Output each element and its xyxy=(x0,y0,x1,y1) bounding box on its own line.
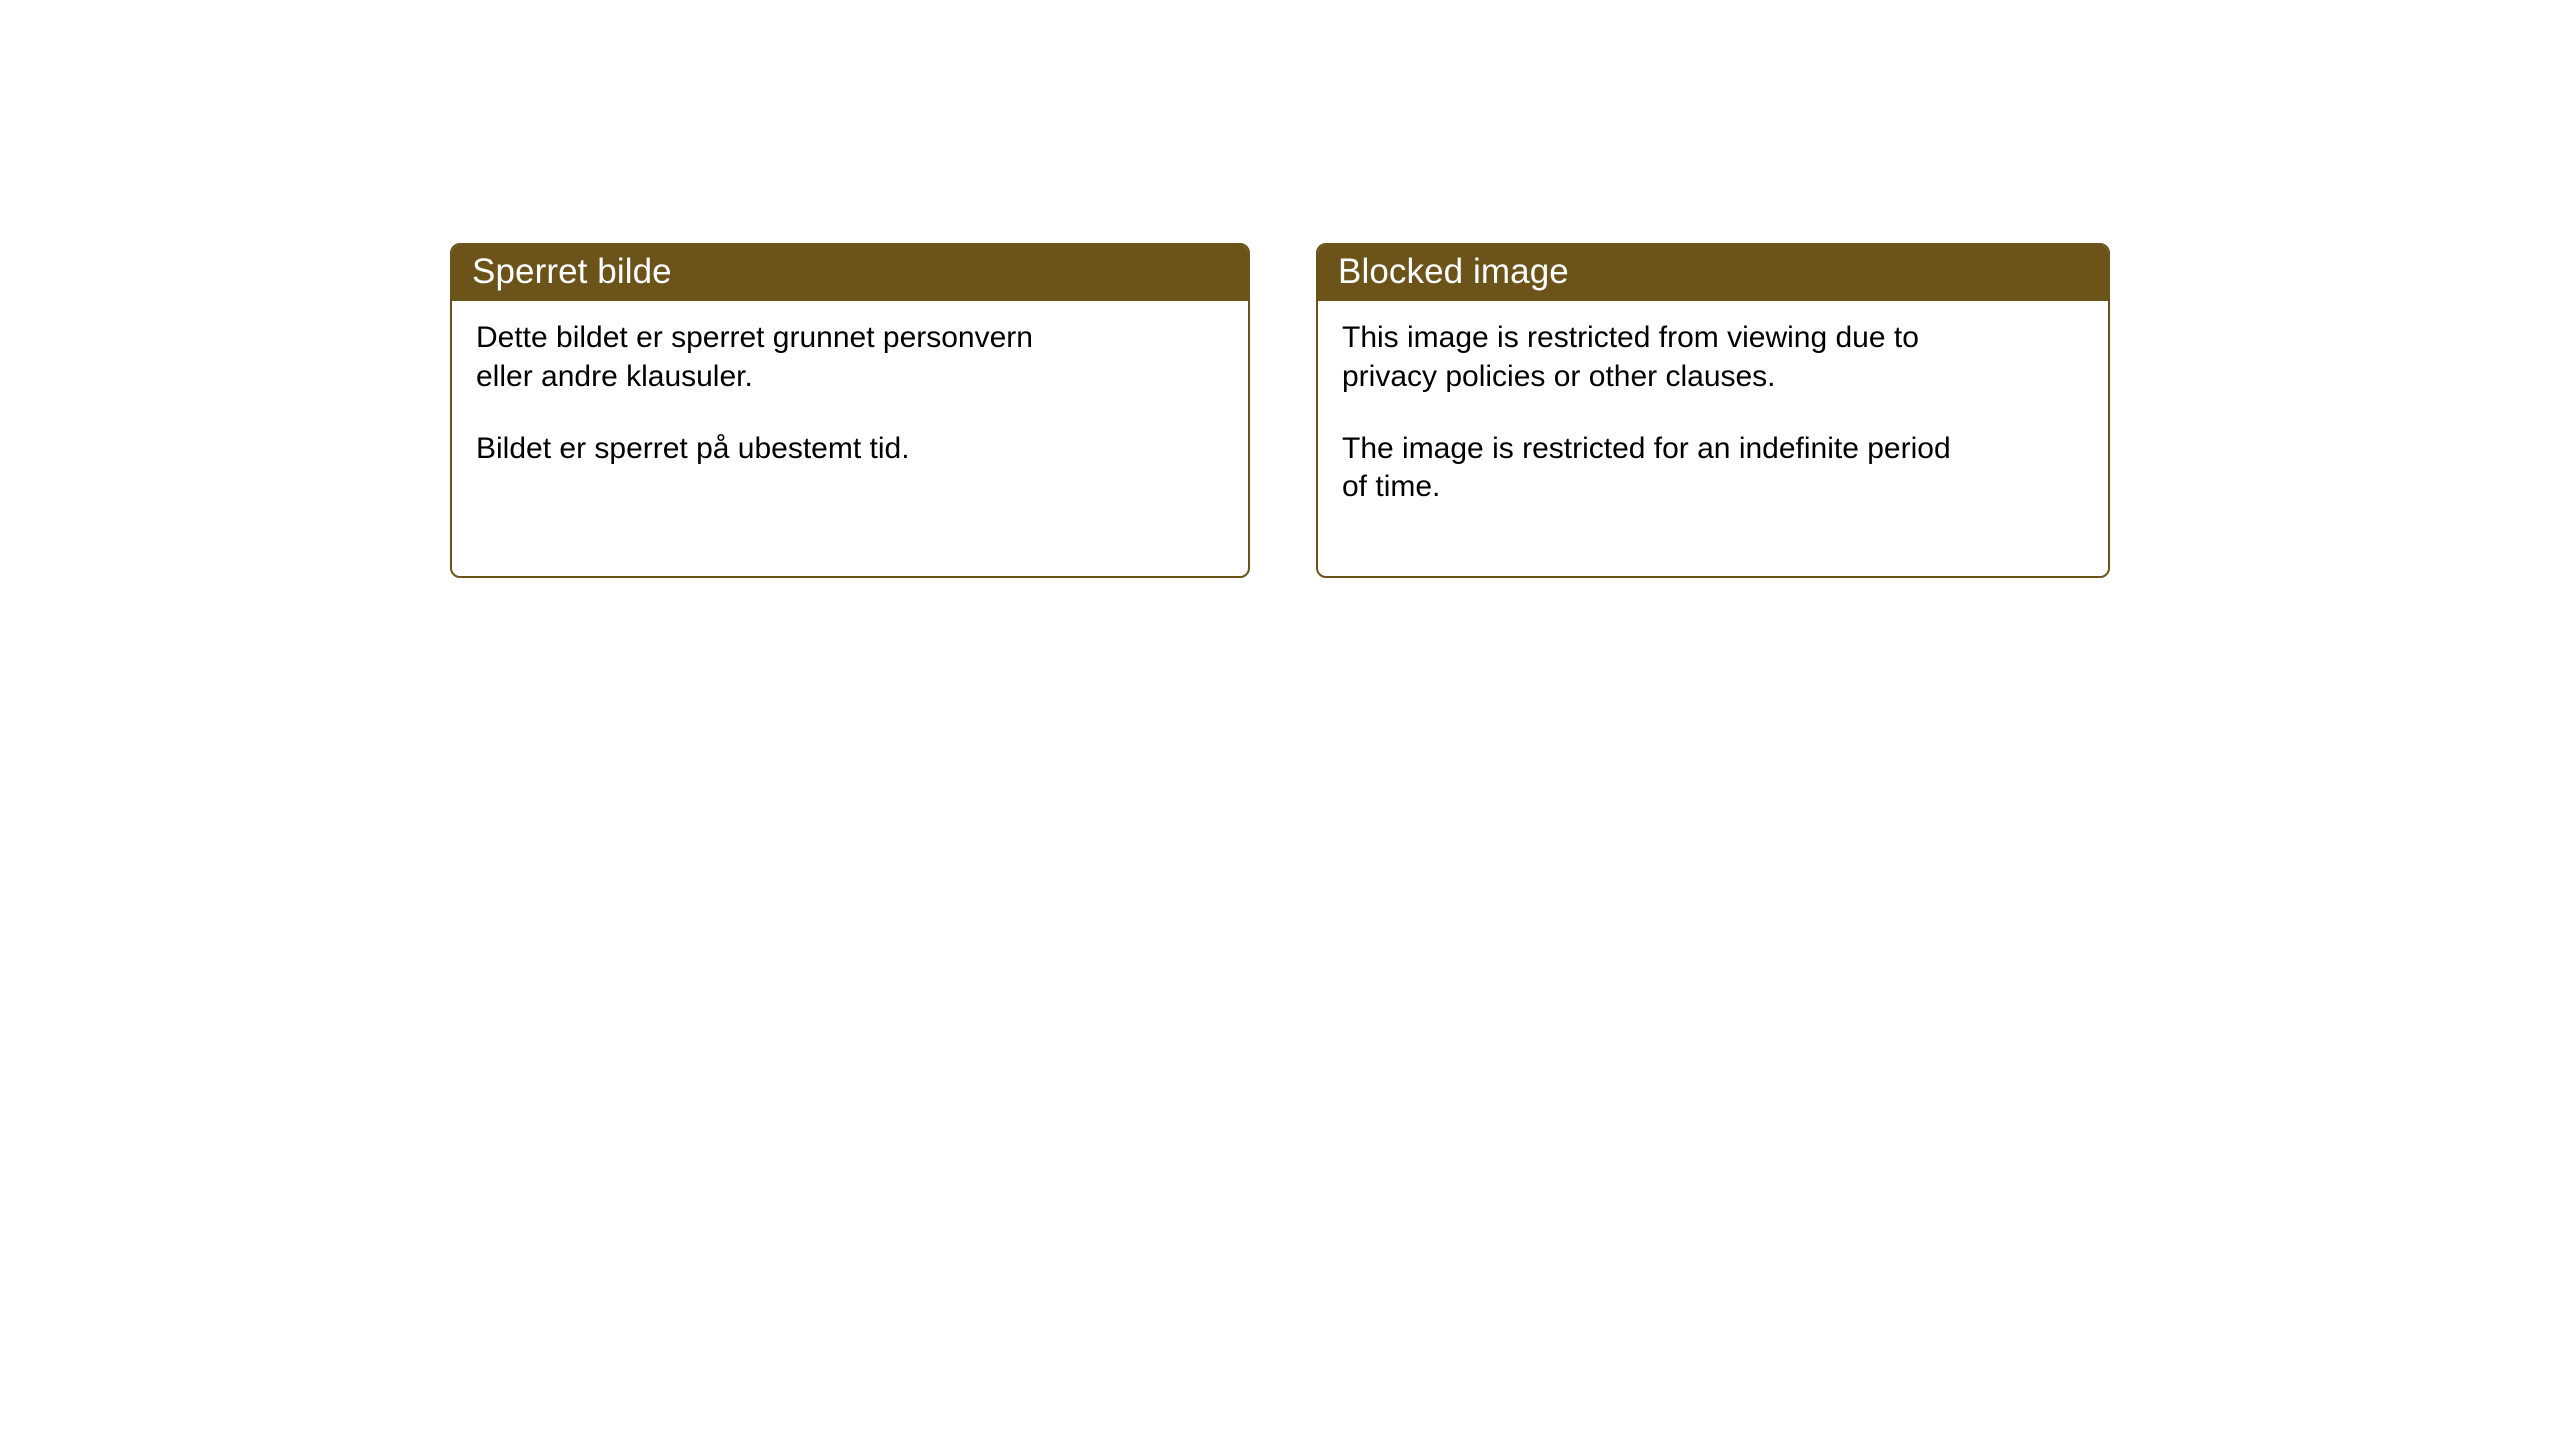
card-paragraph-en-1: This image is restricted from viewing du… xyxy=(1342,319,2086,396)
card-paragraph-no-1: Dette bildet er sperret grunnet personve… xyxy=(476,319,1226,396)
card-paragraph-no-2: Bildet er sperret på ubestemt tid. xyxy=(476,430,1226,468)
card-header-en: Blocked image xyxy=(1316,243,2110,301)
blocked-image-notice-card-no: Sperret bilde Dette bildet er sperret gr… xyxy=(450,243,1250,578)
blocked-image-notice-card-en: Blocked image This image is restricted f… xyxy=(1316,243,2110,578)
card-title-no: Sperret bilde xyxy=(472,252,1228,291)
card-body-no: Dette bildet er sperret grunnet personve… xyxy=(452,301,1248,576)
card-paragraph-en-2: The image is restricted for an indefinit… xyxy=(1342,430,2086,507)
page-canvas: Sperret bilde Dette bildet er sperret gr… xyxy=(0,0,2560,1440)
card-title-en: Blocked image xyxy=(1338,252,2088,291)
card-header-no: Sperret bilde xyxy=(450,243,1250,301)
notice-cards-row: Sperret bilde Dette bildet er sperret gr… xyxy=(450,243,2110,578)
card-body-en: This image is restricted from viewing du… xyxy=(1318,301,2108,576)
